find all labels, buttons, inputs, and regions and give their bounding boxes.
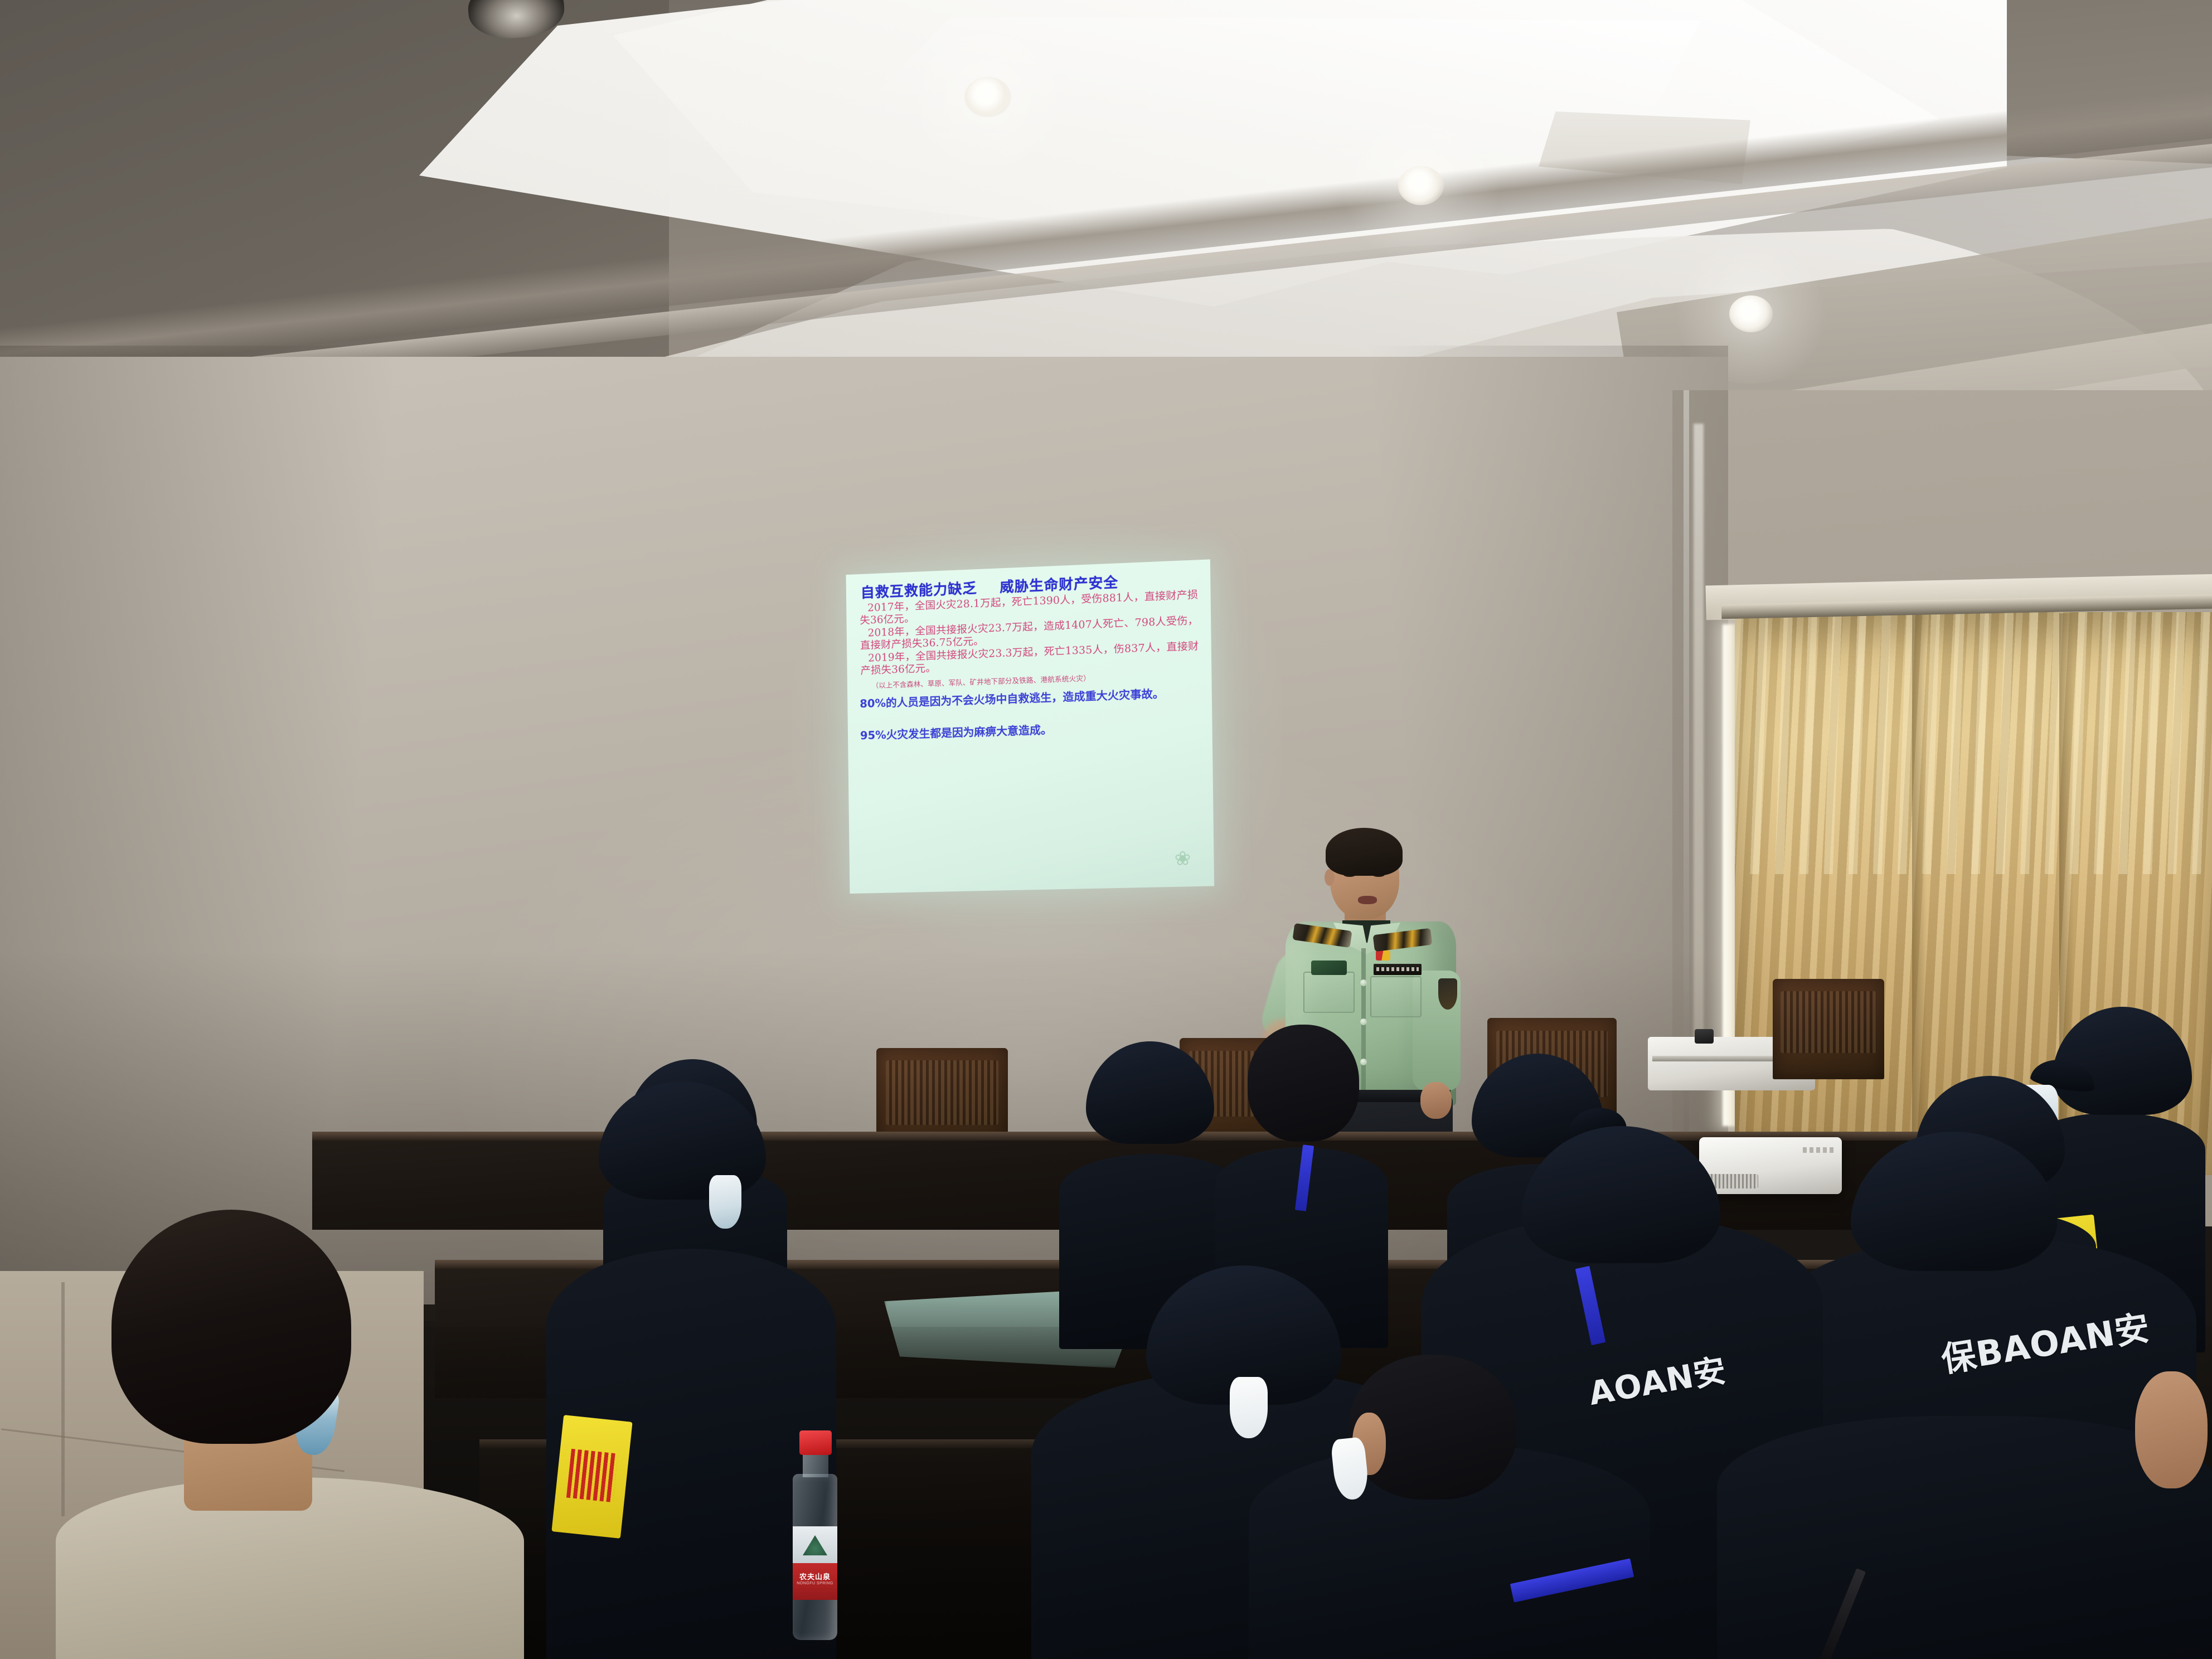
chair-far-right[interactable] <box>1773 979 1884 1079</box>
bottle-brand-en: NONGFU SPRING <box>793 1582 837 1585</box>
bottle-brand-cn: 农夫山泉 <box>793 1571 837 1582</box>
attendee-head <box>1248 1025 1359 1142</box>
bottle-neck <box>803 1453 828 1477</box>
presenter-flag-badge-icon <box>1376 950 1390 961</box>
presenter-ear <box>1325 869 1335 886</box>
foreground-attendee <box>78 1210 502 1659</box>
foreground-attendee-hair <box>111 1210 351 1444</box>
presenter-pocket-left <box>1303 972 1355 1013</box>
meeting-room-photo: 自救互救能力缺乏 威胁生命财产安全 2017年，全国火灾28.1万起，死亡139… <box>0 0 2212 1659</box>
floor-tile-line-2 <box>61 1282 65 1516</box>
bottle-cap[interactable] <box>799 1430 832 1455</box>
water-bottle[interactable]: 农夫山泉 NONGFU SPRING <box>790 1430 838 1640</box>
projected-slide: 自救互救能力缺乏 威胁生命财产安全 2017年，全国火灾28.1万起，死亡139… <box>846 559 1215 894</box>
slide-flower-watermark-icon: ❀ <box>1174 848 1205 880</box>
presenter-pocket-right <box>1370 976 1422 1017</box>
downlight-icon-3 <box>1729 295 1773 332</box>
presenter-mouth <box>1358 896 1377 904</box>
slide-highlight-80: 80%的人员是因为不会火场中自救逃生，造成重大火灾事故。 <box>860 686 1202 711</box>
attendee-cap <box>1086 1041 1214 1144</box>
downlight-icon-2 <box>1398 166 1444 205</box>
presenter-chest-patch <box>1311 961 1347 975</box>
downlight-icon-1 <box>964 77 1011 117</box>
presenter-hair <box>1326 828 1403 876</box>
bottle-label-lower: 农夫山泉 NONGFU SPRING <box>793 1563 837 1600</box>
attendee-cap <box>599 1081 766 1200</box>
presenter-nameplate <box>1374 964 1422 975</box>
slide-highlight-95: 95%火灾发生都是因为麻痹大意造成。 <box>860 719 1203 743</box>
attendee-bottom-center <box>1249 1355 1650 1659</box>
attendee-mask <box>709 1175 741 1229</box>
presenter-sleeve-patch <box>1438 978 1457 1010</box>
presenter-button-1 <box>1360 979 1367 986</box>
attendee-armband-left <box>551 1415 632 1539</box>
attendee-hand-right-edge <box>2135 1371 2208 1488</box>
attendee-cap <box>1522 1126 1720 1263</box>
attendee-cap <box>1851 1132 2057 1271</box>
